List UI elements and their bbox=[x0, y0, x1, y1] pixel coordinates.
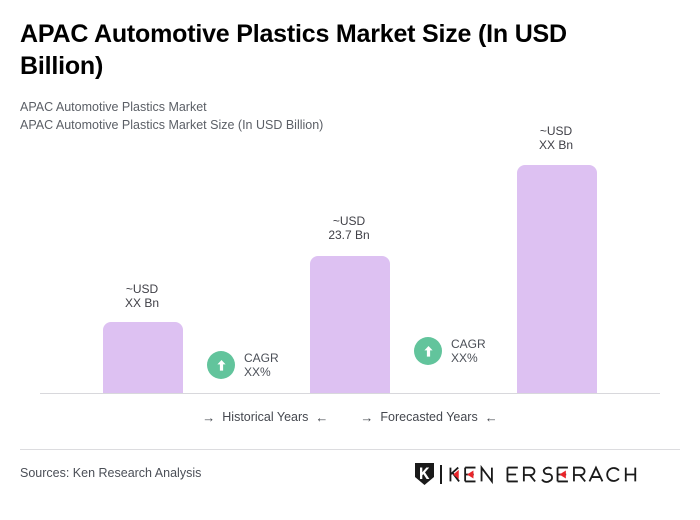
arrow-up-icon bbox=[207, 351, 235, 379]
chart-page: APAC Automotive Plastics Market Size (In… bbox=[0, 0, 700, 520]
cagr-text-1: CAGR XX% bbox=[244, 351, 279, 379]
bar-label-1-currency: ~USD bbox=[82, 282, 202, 296]
logo-wordmark bbox=[447, 465, 663, 484]
arrow-left-icon: ← bbox=[485, 411, 498, 424]
legend-label-historical: Historical Years bbox=[222, 410, 308, 424]
cagr-text-2: CAGR XX% bbox=[451, 337, 486, 365]
bar-2 bbox=[310, 256, 390, 394]
cagr-value-1: XX% bbox=[244, 365, 279, 379]
bar-label-2: ~USD 23.7 Bn bbox=[289, 214, 409, 242]
ken-research-logo bbox=[414, 462, 663, 486]
arrow-left-icon: ← bbox=[315, 411, 328, 424]
bar-3 bbox=[517, 165, 597, 394]
bar-label-1: ~USD XX Bn bbox=[82, 282, 202, 310]
footer-divider bbox=[20, 449, 680, 450]
bar-label-2-currency: ~USD bbox=[289, 214, 409, 228]
period-legend: → Historical Years ← → Forecasted Years … bbox=[40, 410, 660, 424]
arrow-up-icon bbox=[414, 337, 442, 365]
cagr-badge-1: CAGR XX% bbox=[207, 351, 279, 379]
arrow-right-icon: → bbox=[202, 411, 215, 424]
legend-label-forecasted: Forecasted Years bbox=[380, 410, 477, 424]
legend-item-forecasted: → Forecasted Years ← bbox=[360, 410, 497, 424]
axis-baseline bbox=[40, 393, 660, 394]
bar-label-2-value: 23.7 Bn bbox=[289, 228, 409, 242]
cagr-badge-2: CAGR XX% bbox=[414, 337, 486, 365]
legend-item-historical: → Historical Years ← bbox=[202, 410, 328, 424]
bar-label-1-value: XX Bn bbox=[82, 296, 202, 310]
bar-label-3-currency: ~USD bbox=[496, 124, 616, 138]
bar-label-3-value: XX Bn bbox=[496, 138, 616, 152]
bar-1 bbox=[103, 322, 183, 394]
cagr-label-1: CAGR bbox=[244, 351, 279, 365]
arrow-right-icon: → bbox=[360, 411, 373, 424]
bar-label-3: ~USD XX Bn bbox=[496, 124, 616, 152]
chart-plot-area: ~USD XX Bn ~USD 23.7 Bn ~USD XX Bn CAGR bbox=[0, 0, 700, 520]
sources-text: Sources: Ken Research Analysis bbox=[20, 466, 201, 480]
shield-logo-icon bbox=[414, 462, 435, 486]
cagr-value-2: XX% bbox=[451, 351, 486, 365]
logo-separator bbox=[440, 465, 442, 484]
cagr-label-2: CAGR bbox=[451, 337, 486, 351]
